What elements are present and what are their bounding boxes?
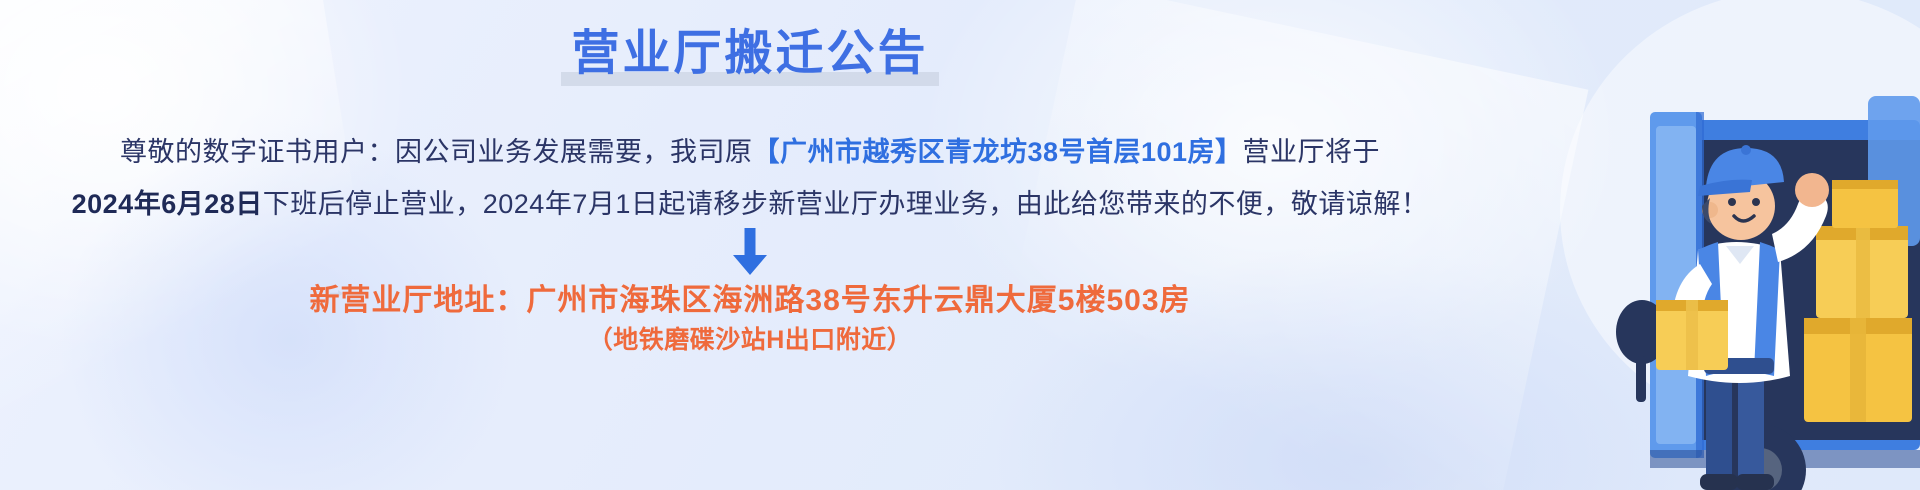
body-line-1-post: 营业厅将于 [1243,137,1381,167]
arrow-down-wrapper [0,228,1500,276]
page-title-wrapper: 营业厅搬迁公告 [0,26,1500,88]
body-line-2-rest: 下班后停止营业，2024年7月1日起请移步新营业厅办理业务，由此给您带来的不便，… [263,189,1429,219]
new-address-note: （地铁磨碟沙站H出口附近） [0,320,1500,356]
page-title-text: 营业厅搬迁公告 [571,27,928,80]
old-address-text: 广州市越秀区青龙坊38号首层101房 [780,137,1215,167]
bracket-close: 】 [1215,137,1243,167]
new-address-line: 新营业厅地址：广州市海珠区海洲路38号东升云鼎大厦5楼503房 [0,275,1500,319]
relocation-announcement-banner: 营业厅搬迁公告 尊敬的数字证书用户：因公司业务发展需要，我司原【广州市越秀区青龙… [0,0,1920,490]
arrow-down-icon [727,228,773,276]
announcement-content: 营业厅搬迁公告 尊敬的数字证书用户：因公司业务发展需要，我司原【广州市越秀区青龙… [0,0,1500,490]
body-line-1: 尊敬的数字证书用户：因公司业务发展需要，我司原【广州市越秀区青龙坊38号首层10… [0,136,1500,168]
bracket-open: 【 [752,137,780,167]
worker-hand-right [1795,173,1829,207]
body-line-1-pre: 尊敬的数字证书用户：因公司业务发展需要，我司原 [120,137,753,167]
body-line-2: 2024年6月28日下班后停止营业，2024年7月1日起请移步新营业厅办理业务，… [0,188,1500,220]
delivery-truck-worker-illustration [1460,0,1920,490]
page-title: 营业厅搬迁公告 [561,26,938,88]
closing-date-text: 2024年6月28日 [72,189,263,219]
